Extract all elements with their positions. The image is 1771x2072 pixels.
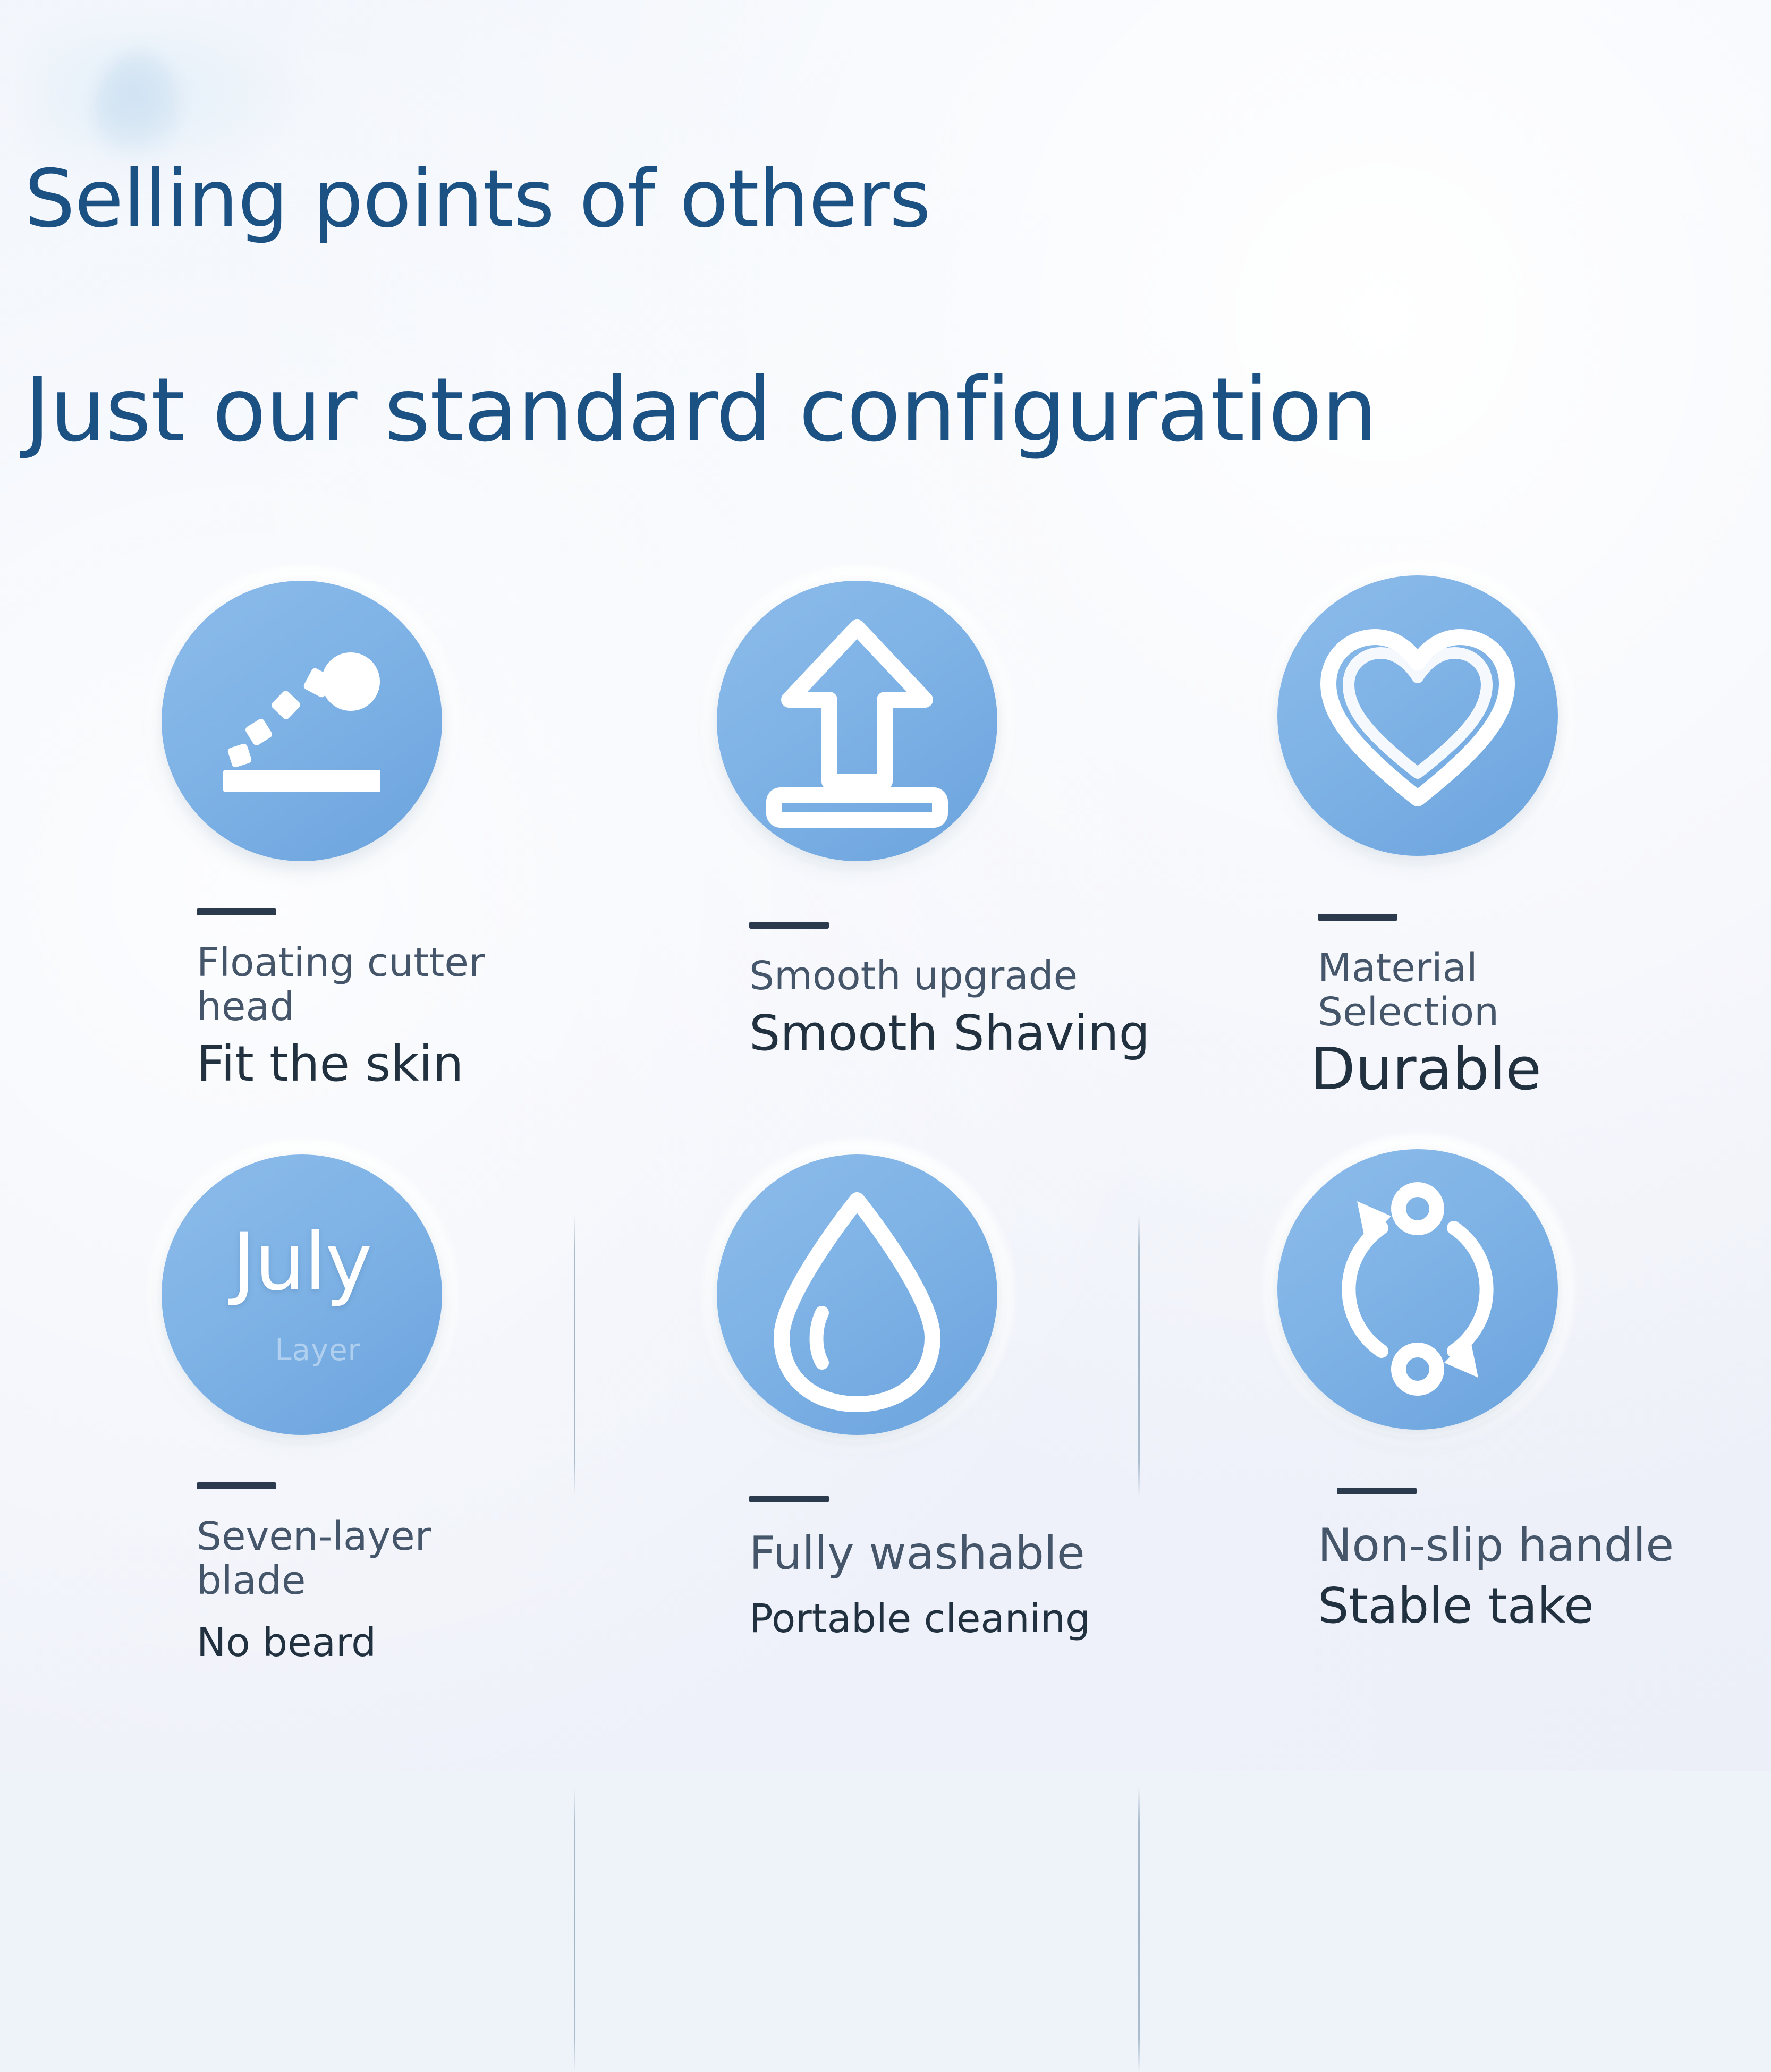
caption-block: Seven-layer blade No beard: [197, 1482, 431, 1665]
feature-title: Smooth Shaving: [749, 1006, 1150, 1060]
caption-rule: [197, 1482, 276, 1489]
feature-subtitle: Fully washable: [749, 1528, 1090, 1579]
icon-badge: July Layer: [154, 1145, 452, 1442]
feature-subtitle: Non-slip handle: [1318, 1520, 1674, 1571]
headline-secondary: Just our standard configuration: [24, 367, 1377, 455]
caption-block: Fully washable Portable cleaning: [749, 1496, 1090, 1641]
rotation-cycle-arrows-icon: [1277, 1149, 1558, 1430]
feature-title: Portable cleaning: [749, 1597, 1090, 1641]
feature-title: Stable take: [1318, 1578, 1674, 1633]
column-divider-3: [574, 1788, 575, 2072]
icon-badge: [154, 571, 452, 869]
caption-rule: [749, 922, 829, 929]
feature-subtitle: Seven-layer blade: [197, 1515, 431, 1603]
icon-badge: [709, 1145, 1007, 1442]
caption-block: Material Selection Durable: [1318, 914, 1541, 1102]
feature-title: Fit the skin: [197, 1037, 485, 1091]
feature-title: No beard: [197, 1621, 431, 1665]
icon-badge: [1270, 1140, 1567, 1437]
caption-block: Floating cutter head Fit the skin: [197, 908, 485, 1091]
poster-canvas: Selling points of others Just our standa…: [0, 0, 1771, 1771]
feature-grid: Floating cutter head Fit the skin: [0, 542, 1771, 1743]
icon-badge: [1270, 566, 1567, 863]
feature-subtitle: Floating cutter head: [197, 941, 485, 1029]
upgrade-up-arrow-icon: [717, 581, 997, 861]
caption-rule: [1318, 914, 1397, 921]
caption-rule: [749, 1496, 829, 1502]
caption-block: Smooth upgrade Smooth Shaving: [749, 922, 1150, 1060]
column-divider-2: [1138, 1214, 1140, 1496]
floating-cutter-head-arc-icon: [162, 581, 442, 861]
badge-month-label: July: [232, 1222, 371, 1302]
column-divider-1: [574, 1214, 575, 1496]
icon-badge: [709, 571, 1007, 869]
feature-subtitle: Smooth upgrade: [749, 954, 1150, 998]
heart-outline-icon: [1277, 575, 1558, 856]
water-drop-icon: [717, 1154, 997, 1435]
headline-primary: Selling points of others: [24, 159, 930, 239]
feature-title: Durable: [1310, 1037, 1541, 1102]
july-layer-badge-icon: July Layer: [162, 1154, 442, 1435]
caption-block: Non-slip handle Stable take: [1318, 1488, 1674, 1633]
caption-rule: [197, 908, 276, 915]
caption-rule: [1337, 1488, 1417, 1494]
feature-subtitle: Material Selection: [1318, 946, 1541, 1034]
column-divider-4: [1138, 1788, 1140, 2072]
badge-layer-label: Layer: [275, 1333, 360, 1368]
